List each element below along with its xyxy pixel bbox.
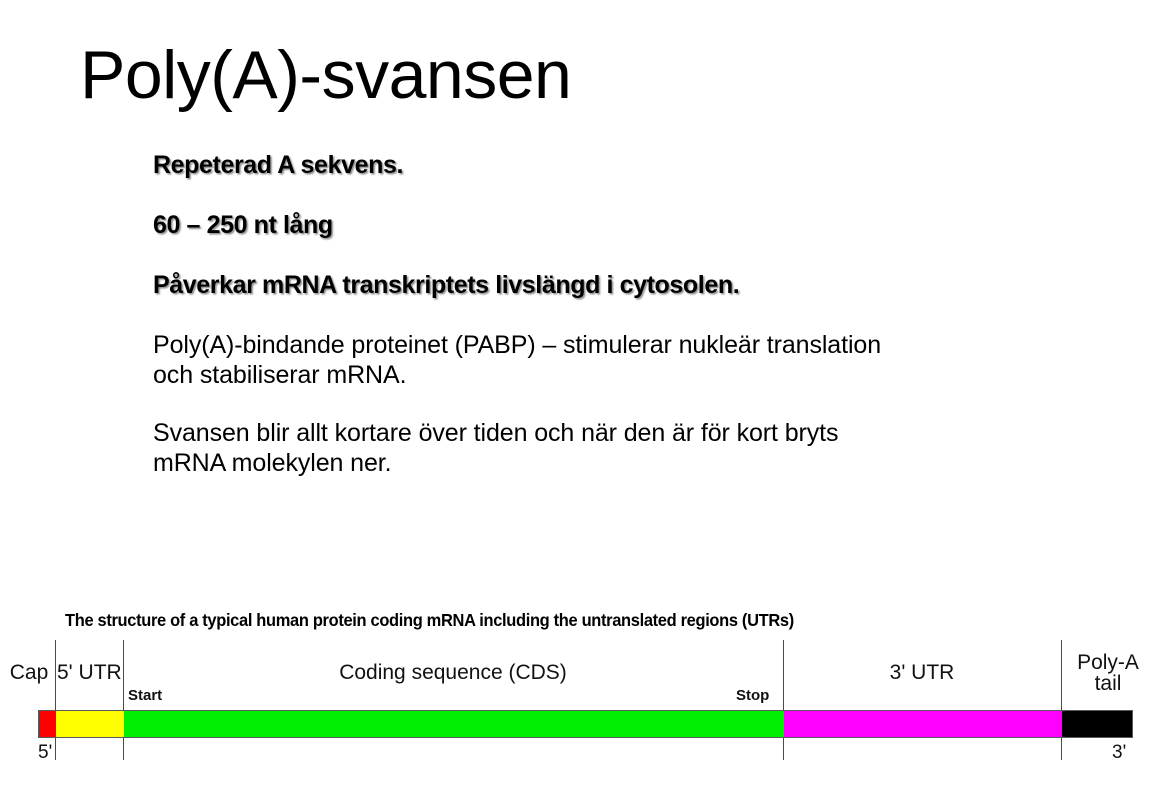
segment-poly-a-tail bbox=[1062, 711, 1132, 737]
label-3-prime-utr: 3' UTR bbox=[785, 662, 1059, 684]
label-start-codon: Start bbox=[128, 687, 162, 704]
diagram-caption: The structure of a typical human protein… bbox=[65, 610, 794, 631]
bullet-line: och stabiliserar mRNA. bbox=[153, 360, 1033, 390]
label-poly-a-tail-line1: Poly-A bbox=[1063, 652, 1153, 673]
mrna-bar bbox=[38, 710, 1133, 738]
label-cap: Cap bbox=[6, 662, 52, 684]
page-title: Poly(A)-svansen bbox=[80, 41, 571, 109]
mrna-structure-diagram: The structure of a typical human protein… bbox=[0, 590, 1160, 804]
bullet-line: 60 – 250 nt lång bbox=[153, 210, 1033, 240]
bullet-line: Svansen blir allt kortare över tiden och… bbox=[153, 418, 1033, 448]
label-5-prime-utr: 5' UTR bbox=[57, 662, 121, 684]
label-poly-a-tail-line2: tail bbox=[1063, 673, 1153, 694]
tick-cap-utr-boundary bbox=[55, 640, 56, 760]
label-5-prime-end: 5' bbox=[38, 742, 52, 764]
label-3-prime-end: 3' bbox=[1112, 742, 1126, 764]
bullet-tail-shortening: Svansen blir allt kortare över tiden och… bbox=[153, 418, 1033, 478]
bullet-pabp: Poly(A)-bindande proteinet (PABP) – stim… bbox=[153, 330, 1033, 390]
bullet-line: Poly(A)-bindande proteinet (PABP) – stim… bbox=[153, 330, 1033, 360]
bullet-line: mRNA molekylen ner. bbox=[153, 448, 1033, 478]
segment-3-prime-utr bbox=[784, 711, 1062, 737]
segment-cap bbox=[39, 711, 56, 737]
tick-cds-utr3-boundary bbox=[783, 640, 784, 760]
segment-coding-sequence bbox=[124, 711, 784, 737]
bullet-length-range: 60 – 250 nt lång bbox=[153, 210, 1033, 240]
tick-utr3-polya-boundary bbox=[1061, 640, 1062, 760]
bullet-transcript-lifetime: Påverkar mRNA transkriptets livslängd i … bbox=[153, 270, 1033, 300]
bullet-line: Repeterad A sekvens. bbox=[153, 150, 1033, 180]
slide-body: Repeterad A sekvens. 60 – 250 nt lång På… bbox=[153, 150, 1033, 506]
bullet-line: Påverkar mRNA transkriptets livslängd i … bbox=[153, 270, 1033, 300]
tick-utr-cds-boundary bbox=[123, 640, 124, 760]
label-coding-sequence: Coding sequence (CDS) bbox=[125, 662, 781, 684]
bullet-repeated-a-sequence: Repeterad A sekvens. bbox=[153, 150, 1033, 180]
segment-5-prime-utr bbox=[56, 711, 124, 737]
label-stop-codon: Stop bbox=[736, 687, 769, 704]
label-poly-a-tail: Poly-A tail bbox=[1063, 652, 1153, 694]
